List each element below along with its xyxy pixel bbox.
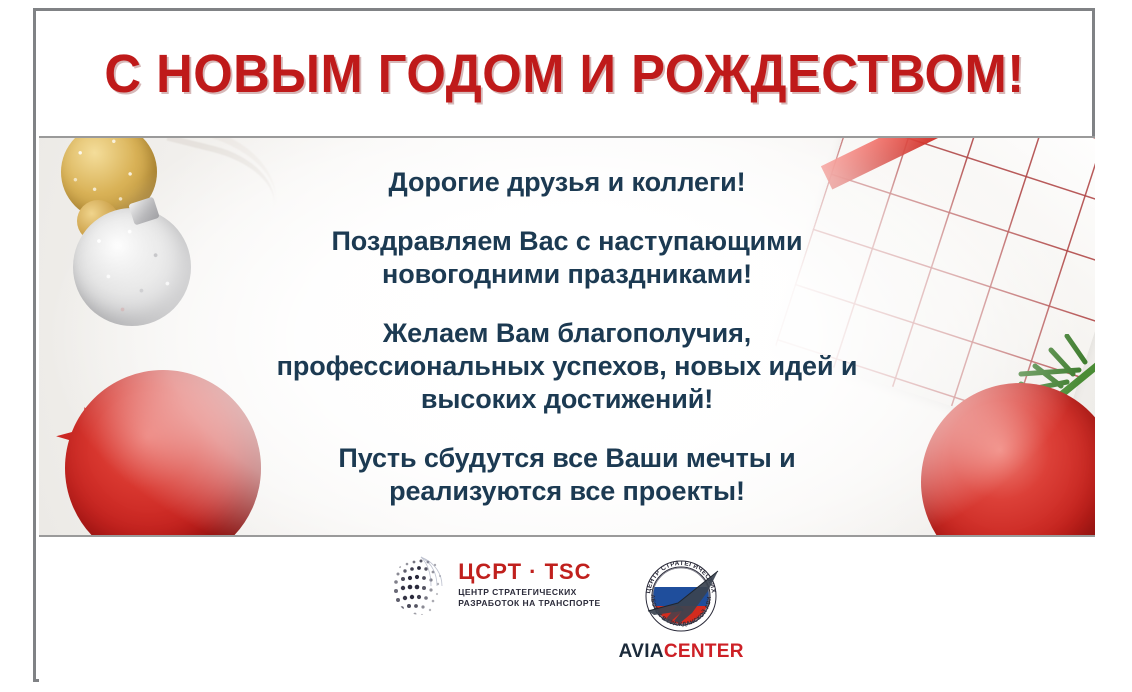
tsc-subtitle: ЦЕНТР СТРАТЕГИЧЕСКИХ РАЗРАБОТОК НА ТРАНС… xyxy=(458,587,600,609)
tsc-logo: ЦСРТ · TSC ЦЕНТР СТРАТЕГИЧЕСКИХ РАЗРАБОТ… xyxy=(390,553,600,617)
message-paragraph: Дорогие друзья и коллеги! xyxy=(389,166,746,199)
tsc-globe-icon xyxy=(390,553,452,617)
tsc-logo-text: ЦСРТ · TSC ЦЕНТР СТРАТЕГИЧЕСКИХ РАЗРАБОТ… xyxy=(458,561,600,609)
message-paragraph: Поздравляем Вас с наступающими новогодни… xyxy=(331,225,802,291)
message-paragraph: Желаем Вам благополучия, профессиональны… xyxy=(277,317,858,416)
greeting-card: С НОВЫМ ГОДОМ И РОЖДЕСТВОМ! xyxy=(33,8,1095,682)
aviacenter-word-part1: AVIA xyxy=(619,641,664,662)
tsc-name: ЦСРТ · TSC xyxy=(458,561,600,583)
page-title: С НОВЫМ ГОДОМ И РОЖДЕСТВОМ! xyxy=(104,43,1024,105)
aviacenter-emblem-icon: ЦЕНТР СТРАТЕГИЧЕСКИХ РАЗРАБОТОК В ГРАЖДА… xyxy=(638,553,724,639)
aviacenter-wordmark: AVIACENTER xyxy=(619,641,744,663)
card-title-area: С НОВЫМ ГОДОМ И РОЖДЕСТВОМ! xyxy=(36,11,1092,136)
aviacenter-logo: ЦЕНТР СТРАТЕГИЧЕСКИХ РАЗРАБОТОК В ГРАЖДА… xyxy=(619,553,744,663)
aviacenter-word-part2: CENTER xyxy=(664,641,744,662)
decorative-photo-band: Дорогие друзья и коллеги! Поздравляем Ва… xyxy=(39,136,1095,537)
message-paragraph: Пусть сбудутся все Ваши мечты и реализую… xyxy=(338,442,795,508)
logo-strip: ЦСРТ · TSC ЦЕНТР СТРАТЕГИЧЕСКИХ РАЗРАБОТ… xyxy=(39,537,1095,682)
greeting-message: Дорогие друзья и коллеги! Поздравляем Ва… xyxy=(39,138,1095,535)
